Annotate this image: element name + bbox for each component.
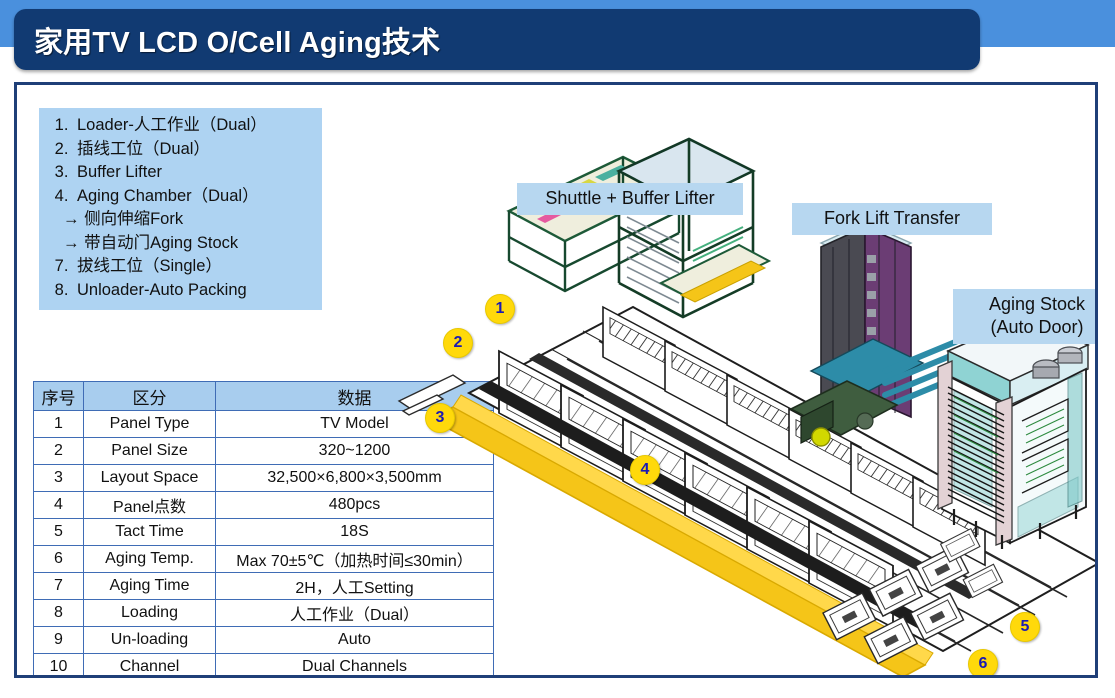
cell-item: Channel bbox=[84, 654, 216, 679]
callout-aging-stock: Aging Stock (Auto Door) bbox=[953, 289, 1098, 344]
list-item: 拔线工位（Single） bbox=[73, 255, 316, 279]
cell-no: 7 bbox=[34, 573, 84, 600]
cell-item: Aging Time bbox=[84, 573, 216, 600]
list-item: Aging Chamber（Dual） bbox=[73, 185, 316, 209]
list-item: Loader-人工作业（Dual） bbox=[73, 114, 316, 138]
panel-cassette-cluster bbox=[303, 93, 340, 259]
cell-no: 1 bbox=[34, 411, 84, 438]
step-badge-3[interactable]: 3 bbox=[425, 403, 455, 433]
cell-no: 2 bbox=[34, 438, 84, 465]
cell-no: 8 bbox=[34, 600, 84, 627]
list-item-sub: → 侧向伸缩Fork bbox=[59, 208, 316, 232]
cell-item: Panel Size bbox=[84, 438, 216, 465]
page-title: 家用TV LCD O/Cell Aging技术 bbox=[34, 19, 440, 61]
column-header-no: 序号 bbox=[34, 382, 84, 411]
cell-item: Panel Type bbox=[84, 411, 216, 438]
process-step-list-items: Loader-人工作业（Dual） 插线工位（Dual） Buffer Lift… bbox=[43, 114, 316, 302]
cell-no: 4 bbox=[34, 492, 84, 519]
callout-shuttle-buffer-lifter: Shuttle + Buffer Lifter bbox=[517, 183, 743, 215]
cell-item: Tact Time bbox=[84, 519, 216, 546]
cell-no: 6 bbox=[34, 546, 84, 573]
diagram-stage: Shuttle + Buffer Lifter Fork Lift Transf… bbox=[303, 93, 1098, 678]
list-item-sub: → 带自动门Aging Stock bbox=[59, 232, 316, 256]
cell-item: Loading bbox=[84, 600, 216, 627]
shuttle-buffer-lifter-render bbox=[503, 133, 773, 333]
step-badge-2[interactable]: 2 bbox=[443, 328, 473, 358]
cell-item: Panel点数 bbox=[84, 492, 216, 519]
cell-item: Un-loading bbox=[84, 627, 216, 654]
cell-no: 10 bbox=[34, 654, 84, 679]
cell-item: Aging Temp. bbox=[84, 546, 216, 573]
cell-no: 5 bbox=[34, 519, 84, 546]
column-header-item: 区分 bbox=[84, 382, 216, 411]
step-badge-5[interactable]: 5 bbox=[1010, 612, 1040, 642]
step-badge-4[interactable]: 4 bbox=[630, 455, 660, 485]
callout-fork-lift-transfer: Fork Lift Transfer bbox=[792, 203, 992, 235]
cell-item: Layout Space bbox=[84, 465, 216, 492]
cell-no: 3 bbox=[34, 465, 84, 492]
page-title-bar: 家用TV LCD O/Cell Aging技术 bbox=[14, 9, 980, 70]
list-item: 插线工位（Dual） bbox=[73, 138, 316, 162]
content-frame: Loader-人工作业（Dual） 插线工位（Dual） Buffer Lift… bbox=[14, 82, 1098, 678]
list-item: Unloader-Auto Packing bbox=[73, 279, 316, 303]
step-badge-1[interactable]: 1 bbox=[485, 294, 515, 324]
step-badge-6[interactable]: 6 bbox=[968, 649, 998, 678]
cell-no: 9 bbox=[34, 627, 84, 654]
aging-stock-render bbox=[918, 311, 1098, 549]
process-step-list: Loader-人工作业（Dual） 插线工位（Dual） Buffer Lift… bbox=[39, 108, 322, 310]
list-item: Buffer Lifter bbox=[73, 161, 316, 185]
